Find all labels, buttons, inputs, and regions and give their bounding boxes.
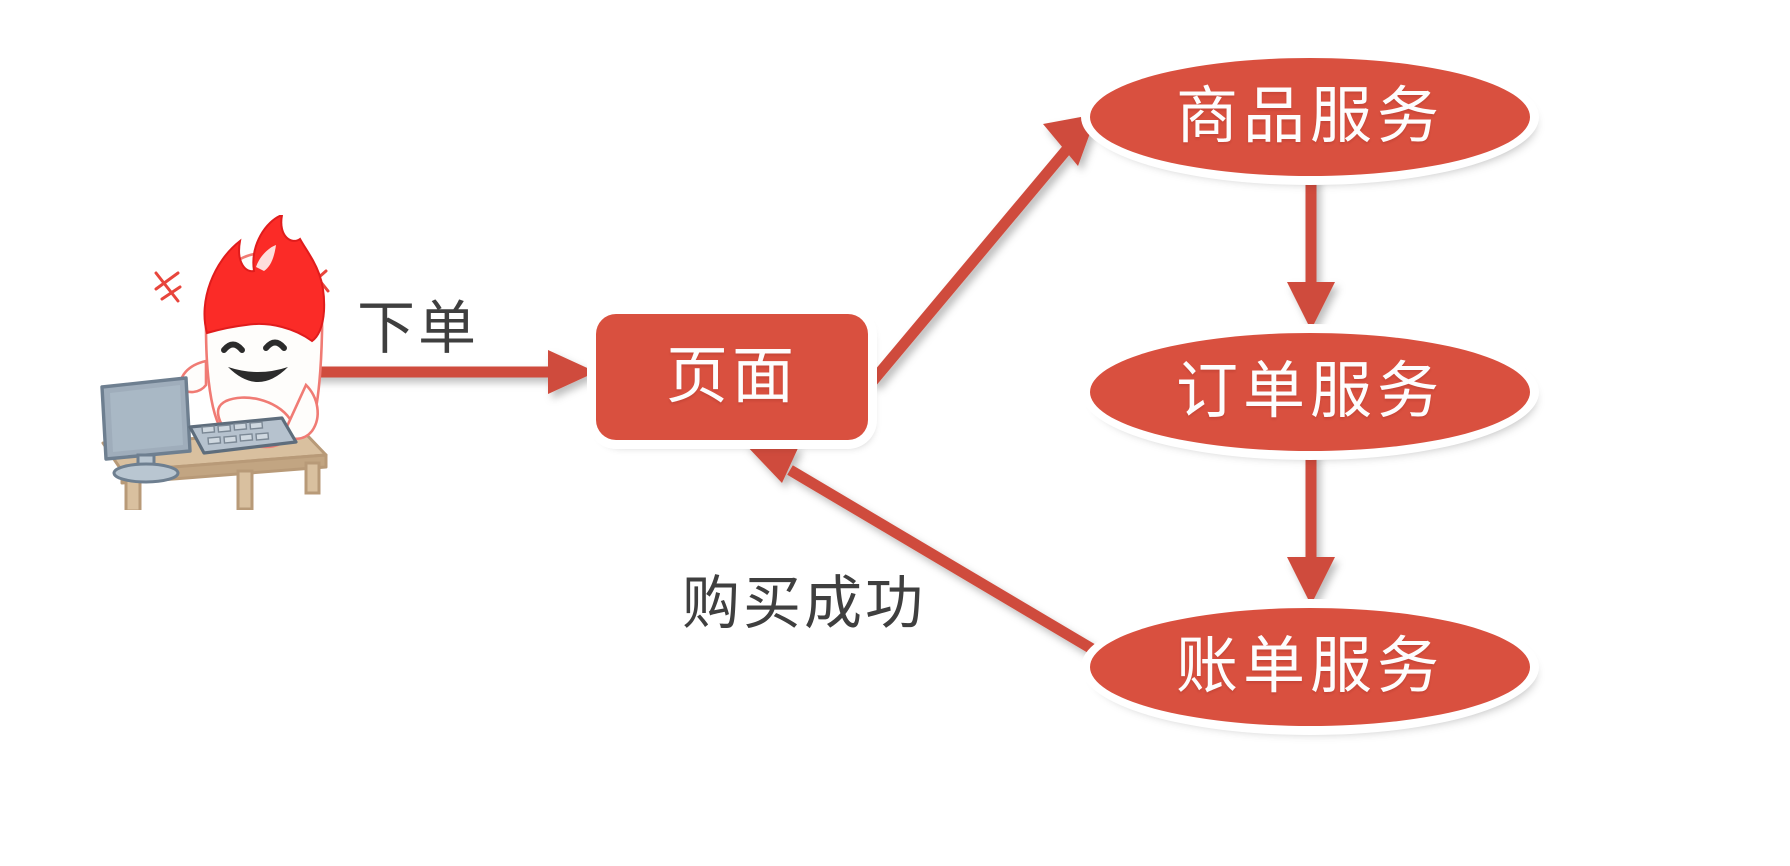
flame-hair-icon xyxy=(204,215,324,341)
node-product-service-label: 商品服务 xyxy=(1176,86,1444,148)
edge-label-place-order: 下单 xyxy=(357,300,479,358)
node-product-service[interactable]: 商品服务 xyxy=(1090,58,1530,176)
node-order-service[interactable]: 订单服务 xyxy=(1090,333,1530,451)
node-bill-service[interactable]: 账单服务 xyxy=(1090,608,1530,726)
diagram-canvas: 页面 商品服务 订单服务 账单服务 下单 购买成功 xyxy=(0,0,1790,866)
edge-order-to-bill-service xyxy=(1287,452,1335,605)
node-bill-service-label: 账单服务 xyxy=(1176,636,1444,698)
edge-product-to-order-service xyxy=(1287,176,1335,330)
edge-page-to-product-service xyxy=(872,114,1097,382)
node-page[interactable]: 页面 xyxy=(596,314,868,440)
node-order-service-label: 订单服务 xyxy=(1176,361,1444,423)
user-mascot xyxy=(60,215,330,510)
node-page-label: 页面 xyxy=(666,346,798,408)
edge-label-purchase-success: 购买成功 xyxy=(682,575,926,633)
